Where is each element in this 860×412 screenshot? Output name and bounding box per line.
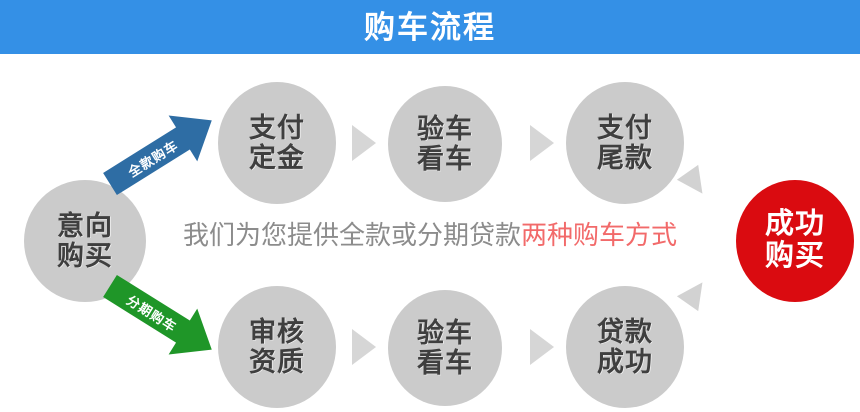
header-bar: 购车流程 — [0, 0, 860, 54]
connector-triangle-right-icon — [530, 125, 554, 161]
tagline-gray-text: 我们为您提供全款或分期贷款 — [183, 220, 521, 250]
block-arrow-icon — [96, 98, 226, 207]
block-arrow-icon — [96, 263, 226, 372]
connector-triangle-right-icon — [352, 125, 376, 161]
node-label-line-1: 支付 — [597, 113, 653, 143]
flow-node-loan-approved[interactable]: 贷款 成功 — [566, 286, 684, 408]
converge-triangle-bottom-icon — [677, 275, 713, 311]
branch-arrow-installment[interactable]: 分期购车 — [96, 263, 226, 372]
node-label-line-2: 成功 — [597, 347, 653, 377]
flow-node-pay-deposit[interactable]: 支付 定金 — [218, 82, 336, 204]
flow-node-inspect-car-top[interactable]: 验车 看车 — [388, 86, 502, 202]
connector-triangle-right-icon — [352, 329, 376, 365]
connector-triangle-right-icon — [530, 329, 554, 365]
purchase-flow-infographic: 购车流程 意向 购买 全款购车 分期购车 支付 定金 — [0, 0, 860, 412]
node-label-line-1: 验车 — [417, 318, 473, 348]
page-title: 购车流程 — [364, 12, 496, 43]
node-label-line-2: 看车 — [417, 144, 473, 174]
node-label-line-2: 尾款 — [597, 143, 653, 173]
flow-diagram: 意向 购买 全款购车 分期购车 支付 定金 验车 看车 — [0, 54, 860, 412]
node-label-line-2: 看车 — [417, 348, 473, 378]
branch-arrow-full-payment[interactable]: 全款购车 — [96, 98, 226, 207]
node-label-line-2: 定金 — [249, 143, 305, 173]
flow-node-inspect-car-bottom[interactable]: 验车 看车 — [388, 290, 502, 406]
flow-node-review-qualification[interactable]: 审核 资质 — [218, 286, 336, 408]
flow-node-pay-balance[interactable]: 支付 尾款 — [566, 82, 684, 204]
node-label-line-2: 资质 — [249, 347, 305, 377]
node-label-line-1: 贷款 — [597, 317, 653, 347]
node-label-line-1: 验车 — [417, 114, 473, 144]
converge-triangle-top-icon — [677, 165, 713, 201]
tagline-red-text: 两种购车方式 — [521, 220, 677, 250]
tagline: 我们为您提供全款或分期贷款两种购车方式 — [0, 222, 860, 248]
node-label-line-1: 支付 — [249, 113, 305, 143]
node-label-line-1: 审核 — [249, 317, 305, 347]
